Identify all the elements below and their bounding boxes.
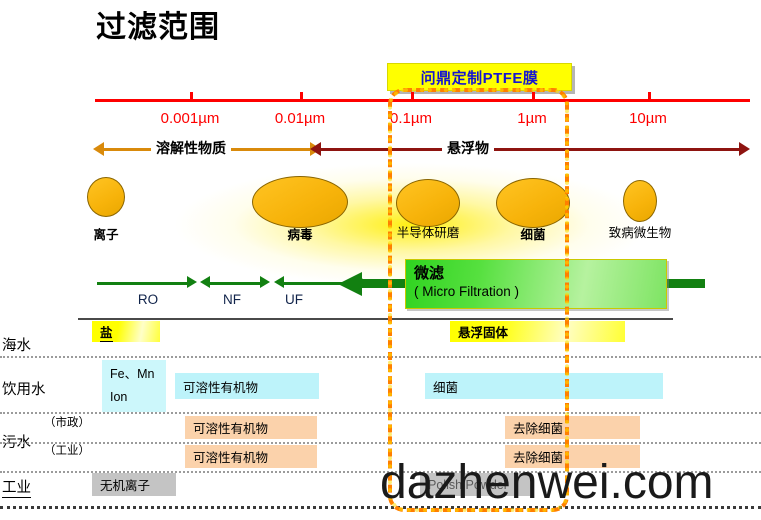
watermark-text: dazhenwei.com (380, 455, 714, 510)
watermark-layer: dazhenwei.com (0, 0, 761, 520)
diagram-canvas: 过滤范围 问鼎定制PTFE膜 0.001µm 0.01µm 0.1µm 1µm … (0, 0, 761, 520)
